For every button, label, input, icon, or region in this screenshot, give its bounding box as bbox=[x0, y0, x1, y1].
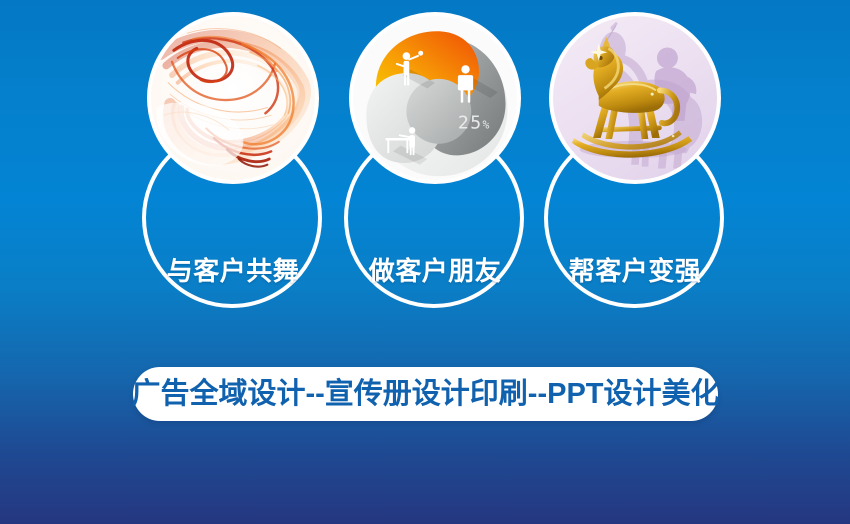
orange-abstract-swirl-image bbox=[147, 12, 319, 184]
feature-item-help-customer-grow[interactable]: 帮客户变强 bbox=[530, 0, 740, 350]
services-banner-text: 广告全域设计--宣传册设计印刷--PPT设计美化 bbox=[131, 380, 719, 409]
services-banner[interactable]: 广告全域设计--宣传册设计印刷--PPT设计美化 bbox=[133, 367, 718, 421]
promo-banner-canvas: 与客户共舞 bbox=[0, 0, 850, 524]
circle-feature-group: 与客户共舞 bbox=[0, 0, 850, 350]
feature-item-be-customer-friend[interactable]: 25% 做客户朋友 bbox=[330, 0, 540, 350]
infographic-donut-chart-image: 25% bbox=[349, 12, 521, 184]
feature-caption: 帮客户变强 bbox=[530, 258, 740, 284]
feature-caption: 做客户朋友 bbox=[330, 258, 540, 284]
feature-caption: 与客户共舞 bbox=[128, 258, 338, 284]
golden-rocking-horse-image bbox=[549, 12, 721, 184]
feature-item-dance-with-customer[interactable]: 与客户共舞 bbox=[128, 0, 338, 350]
